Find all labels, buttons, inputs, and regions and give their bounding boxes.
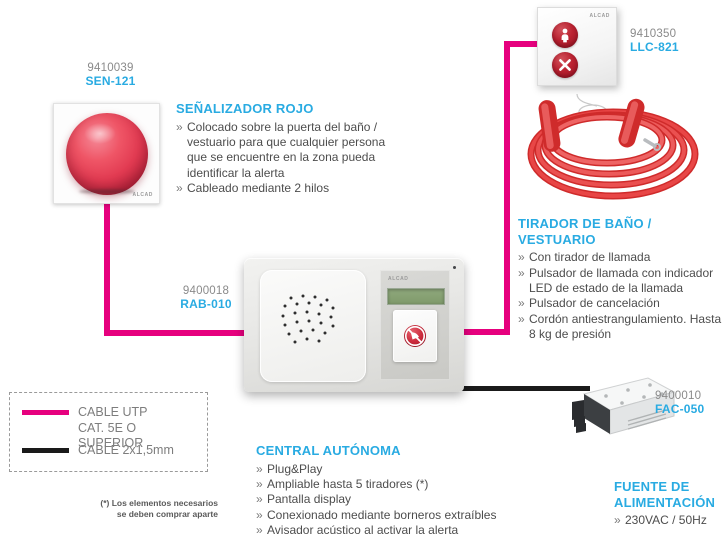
nurse-call-icon	[404, 325, 426, 347]
bullet-marker-icon: »	[256, 462, 263, 477]
bullet-list-pullcord: » Con tirador de llamada » Pulsador de l…	[518, 250, 724, 342]
bullet-text: Cableado mediante 2 hilos	[187, 181, 329, 195]
bullet-text: Ampliable hasta 5 tiradores (*)	[267, 477, 428, 491]
bullet-item: » Avisador acústico al activar la alerta	[256, 523, 536, 538]
bullet-marker-icon: »	[256, 477, 263, 492]
bullet-marker-icon: »	[256, 492, 263, 507]
code-label-fac050: 9400010 FAC-050	[655, 390, 727, 417]
code-model-fac050: FAC-050	[655, 403, 727, 417]
speaker-panel	[260, 270, 366, 382]
bullet-item: » Cordón antiestrangulamiento. Hasta 8 k…	[518, 312, 724, 343]
close-x-icon	[558, 58, 572, 72]
bullet-marker-icon: »	[614, 513, 621, 528]
heading-pullcord: TIRADOR DE BAÑO / VESTUARIO	[518, 216, 724, 247]
bullet-item: » Plug&Play	[256, 462, 536, 477]
bullet-item: » Cableado mediante 2 hilos	[176, 181, 406, 196]
bullet-text: Colocado sobre la puerta del baño / vest…	[187, 120, 385, 180]
bullet-marker-icon: »	[176, 120, 183, 135]
bullet-marker-icon: »	[518, 266, 525, 281]
red-cord-illustration	[505, 92, 720, 204]
bullet-text: Con tirador de llamada	[529, 250, 650, 264]
heading-signalizer: SEÑALIZADOR ROJO	[176, 101, 406, 117]
brand-logo-alcad: ALCAD	[388, 276, 409, 282]
description-power-supply: FUENTE DE ALIMENTACIÓN » 230VAC / 50Hz	[614, 479, 727, 529]
cable-utp-signalizer-vertical	[104, 196, 110, 336]
keypad-panel: ALCAD	[380, 270, 450, 380]
bullet-list-power-supply: » 230VAC / 50Hz	[614, 513, 727, 528]
bullet-text: 230VAC / 50Hz	[625, 513, 707, 527]
diagram-canvas: 9410039 SEN-121 ALCAD SEÑALIZADOR ROJO »…	[0, 0, 727, 548]
legend-row-cable-power: CABLE 2x1,5mm	[22, 443, 202, 459]
cable-utp-pullcord-horizontal	[462, 329, 510, 335]
code-label-llc821: 9410350 LLC-821	[630, 28, 720, 55]
bullet-marker-icon: »	[256, 523, 263, 538]
footnote-line2: se deben comprar aparte	[60, 509, 218, 520]
call-button-person[interactable]	[552, 22, 578, 48]
status-led-dot	[453, 266, 456, 269]
bullet-item: » Con tirador de llamada	[518, 250, 724, 265]
bullet-text: Pulsador de cancelación	[529, 296, 660, 310]
device-signalizer-sen121[interactable]: ALCAD	[53, 103, 160, 204]
code-label-rab010: 9400018 RAB-010	[160, 285, 252, 312]
code-model-llc821: LLC-821	[630, 41, 720, 55]
footnote-line1: (*) Los elementos necesarios	[60, 498, 218, 509]
device-pull-cord-red	[505, 92, 720, 204]
legend-label-utp-line1: CABLE UTP	[78, 405, 202, 421]
bullet-item: » Pulsador de llamada con indicador LED …	[518, 266, 724, 297]
heading-central-unit: CENTRAL AUTÓNOMA	[256, 443, 536, 459]
bullet-text: Pulsador de llamada con indicador LED de…	[529, 266, 713, 295]
heading-power-supply-line2: ALIMENTACIÓN	[614, 495, 727, 511]
description-pullcord: TIRADOR DE BAÑO / VESTUARIO » Con tirado…	[518, 216, 724, 342]
code-label-sen121: 9410039 SEN-121	[63, 62, 158, 89]
bullet-list-signalizer: » Colocado sobre la puerta del baño / ve…	[176, 120, 406, 197]
device-pullcord-plate-llc821[interactable]: ALCAD	[537, 7, 617, 86]
device-central-unit-rab010[interactable]: ALCAD	[244, 258, 464, 392]
cable-utp-signalizer-horizontal	[104, 330, 250, 336]
lcd-display	[387, 288, 445, 305]
bullet-item: » Colocado sobre la puerta del baño / ve…	[176, 120, 406, 181]
bullet-marker-icon: »	[256, 508, 263, 523]
bullet-item: » Pulsador de cancelación	[518, 296, 724, 311]
bullet-marker-icon: »	[518, 296, 525, 311]
person-icon	[559, 28, 571, 43]
bullet-text: Avisador acústico al activar la alerta	[267, 523, 458, 537]
bullet-text: Plug&Play	[267, 462, 322, 476]
beacon-dome	[66, 113, 148, 195]
bullet-marker-icon: »	[176, 181, 183, 196]
bullet-text: Cordón antiestrangulamiento. Hasta 8 kg …	[529, 312, 721, 341]
legend-swatch-utp	[22, 410, 69, 415]
legend-swatch-power	[22, 448, 69, 453]
brand-logo-alcad: ALCAD	[133, 192, 154, 198]
code-model-rab010: RAB-010	[160, 298, 252, 312]
footnote-asterisk-note: (*) Los elementos necesarios se deben co…	[60, 498, 218, 521]
legend-label-power-line1: CABLE 2x1,5mm	[78, 443, 174, 459]
bullet-text: Pantalla display	[267, 492, 351, 506]
bullet-marker-icon: »	[518, 312, 525, 327]
nurse-call-button[interactable]	[393, 310, 437, 362]
bullet-item: » Ampliable hasta 5 tiradores (*)	[256, 477, 536, 492]
legend-label-power: CABLE 2x1,5mm	[78, 443, 174, 459]
cancel-button-x[interactable]	[552, 52, 578, 78]
bullet-marker-icon: »	[518, 250, 525, 265]
description-signalizer: SEÑALIZADOR ROJO » Colocado sobre la pue…	[176, 101, 406, 196]
description-central-unit: CENTRAL AUTÓNOMA » Plug&Play » Ampliable…	[256, 443, 536, 538]
heading-power-supply-line1: FUENTE DE	[614, 479, 727, 495]
beacon-base-shadow	[79, 189, 135, 194]
bullet-item: » Pantalla display	[256, 492, 536, 507]
brand-logo-alcad: ALCAD	[590, 13, 611, 19]
bullet-item: » 230VAC / 50Hz	[614, 513, 727, 528]
bullet-list-central-unit: » Plug&Play » Ampliable hasta 5 tiradore…	[256, 462, 536, 539]
speaker-grille-icon	[279, 292, 349, 354]
bullet-item: » Conexionado mediante borneros extraíbl…	[256, 508, 536, 523]
bullet-text: Conexionado mediante borneros extraíbles	[267, 508, 496, 522]
code-model-sen121: SEN-121	[63, 75, 158, 89]
